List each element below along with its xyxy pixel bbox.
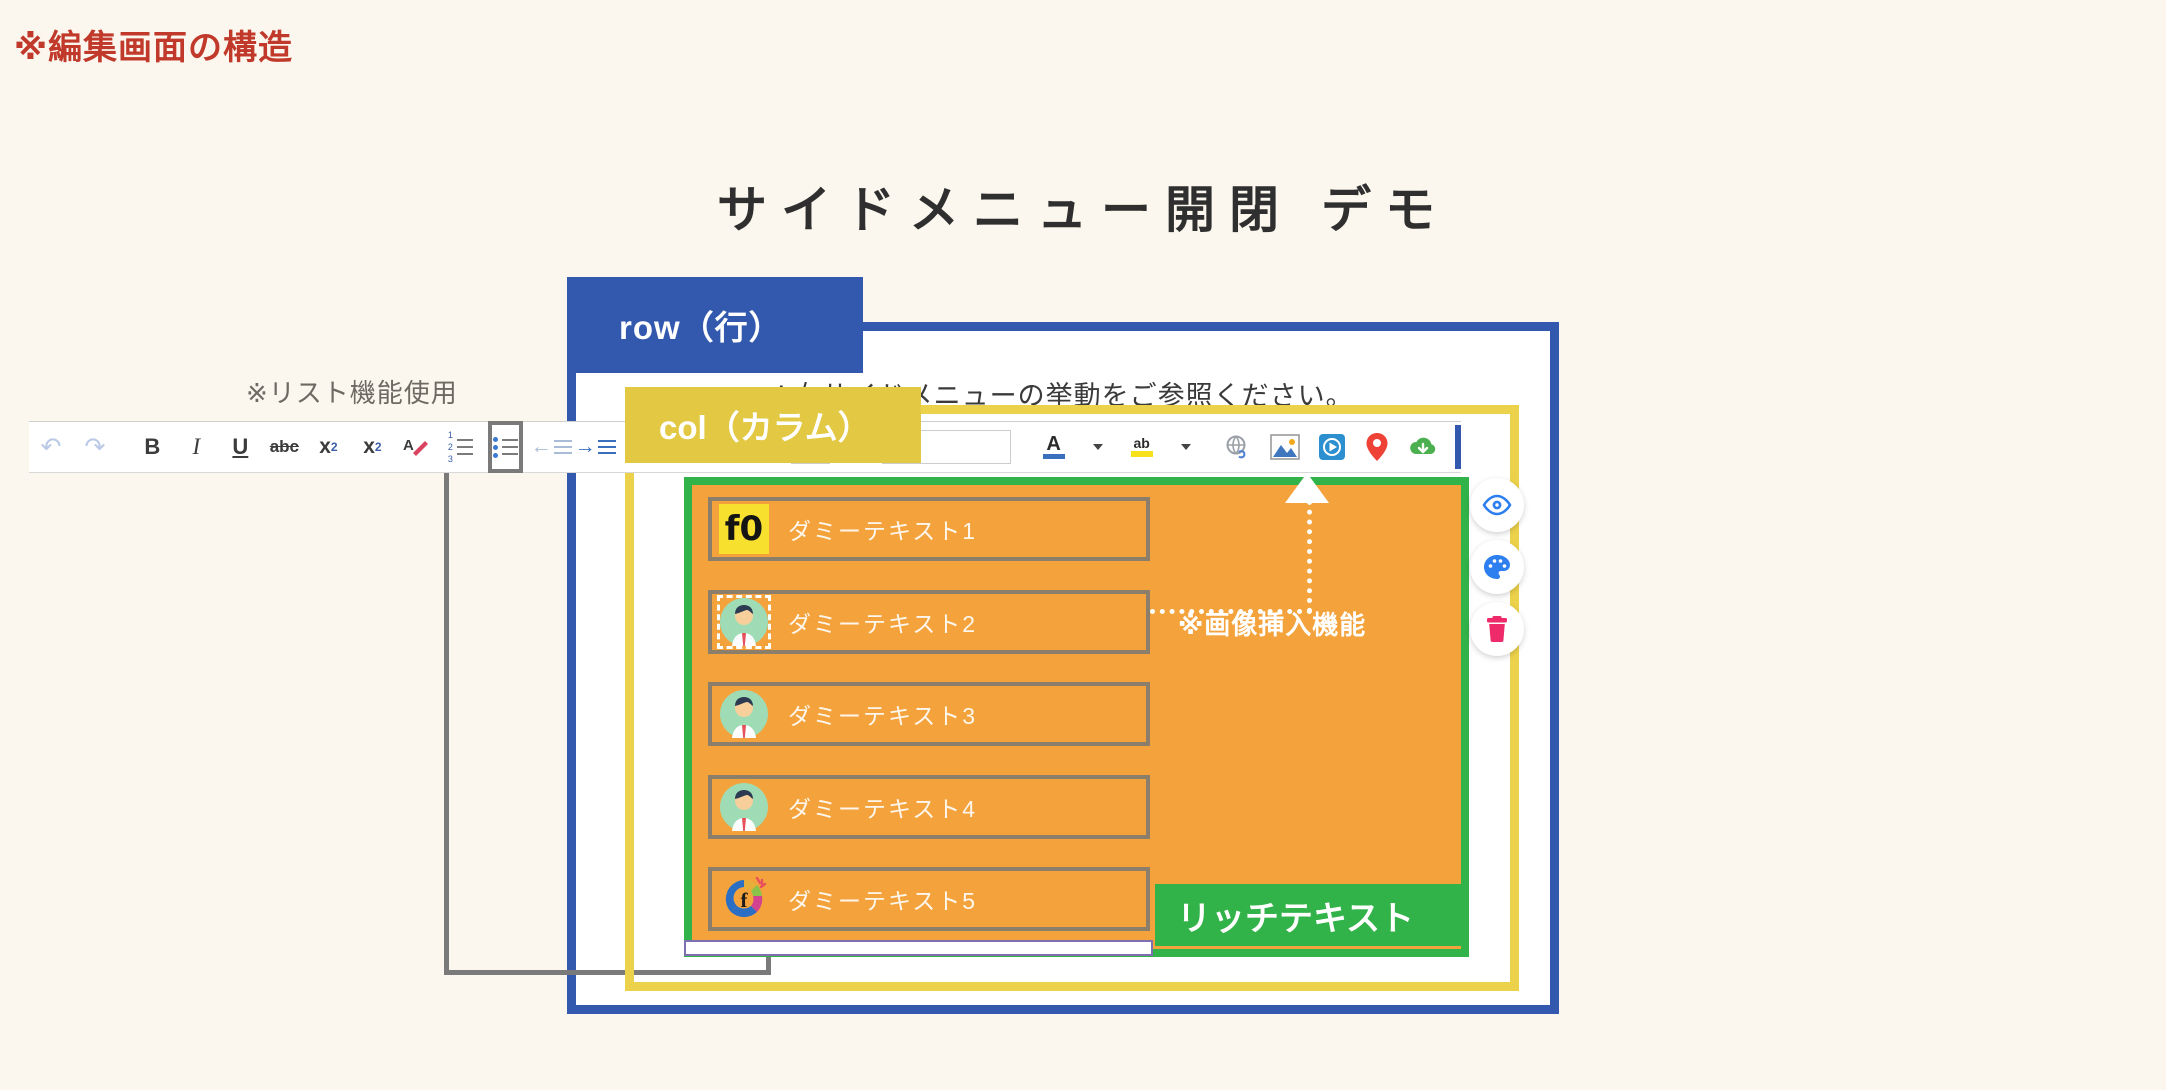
col-callout-label: col（カラム） [659, 401, 871, 449]
image-feature-caption: ※画像挿入機能 [1178, 605, 1366, 642]
col-callout-tag: col（カラム） [625, 387, 921, 463]
demo-title: サイドメニュー開閉 デモ [0, 170, 2166, 242]
strikethrough-icon: abc [270, 437, 299, 457]
list-item[interactable]: ダミーテキスト3 [708, 682, 1150, 746]
avatar-icon [718, 781, 770, 833]
avatar-icon [718, 688, 770, 740]
highlight-color-button[interactable]: ab [1125, 427, 1159, 467]
preview-button[interactable] [1470, 478, 1524, 532]
redo-icon: ↷ [85, 432, 106, 462]
cloud-download-icon [1408, 434, 1438, 460]
link-icon [1224, 433, 1252, 461]
flower-f-logo-icon: f [718, 873, 770, 925]
outdent-icon: ← [531, 435, 572, 459]
highlight-color-dropdown[interactable] [1169, 427, 1203, 467]
redo-button[interactable]: ↷ [78, 427, 112, 467]
strikethrough-button[interactable]: abc [267, 427, 301, 467]
subscript-icon: x [319, 435, 331, 459]
avatar-image [719, 597, 769, 647]
text-color-icon: A [1043, 435, 1065, 459]
list-item-label: ダミーテキスト2 [788, 605, 977, 639]
location-pin-icon [1364, 432, 1390, 462]
cloud-download-button[interactable] [1408, 432, 1438, 462]
list-item-label: ダミーテキスト5 [788, 882, 977, 916]
chevron-down-icon [1093, 444, 1103, 450]
image-feature-line-vertical [1307, 490, 1312, 613]
text-color-button[interactable]: A [1037, 427, 1071, 467]
style-button[interactable] [1470, 540, 1524, 594]
subscript-mark: 2 [331, 440, 338, 454]
f0-badge-label: f0 [719, 504, 769, 554]
svg-text:A: A [403, 437, 414, 454]
text-color-dropdown[interactable] [1081, 427, 1115, 467]
clear-format-icon: A [403, 435, 429, 459]
avatar-image [719, 689, 769, 739]
rich-text-callout-tag: リッチテキスト [1155, 884, 1468, 946]
underline-button[interactable]: U [223, 427, 257, 467]
undo-icon: ↶ [41, 432, 62, 462]
rich-text-callout-label: リッチテキスト [1177, 891, 1414, 940]
video-icon [1318, 433, 1346, 461]
superscript-button[interactable]: x2 [355, 427, 389, 467]
avatar-image [719, 782, 769, 832]
clear-format-button[interactable]: A [399, 427, 433, 467]
f0-badge-icon: f0 [718, 503, 770, 555]
image-feature-arrow-icon [1285, 473, 1329, 503]
side-action-buttons [1470, 478, 1524, 664]
italic-button[interactable]: I [179, 427, 213, 467]
link-button[interactable] [1224, 432, 1252, 462]
image-icon [1270, 433, 1300, 461]
leader-line-vertical [444, 473, 449, 975]
list-item[interactable]: ダミーテキスト2 [708, 590, 1150, 654]
editor-bottom-strip [684, 940, 1153, 956]
outdent-button[interactable]: ← [534, 427, 568, 467]
page-annotation-title: ※編集画面の構造 [14, 20, 293, 69]
delete-button[interactable] [1470, 602, 1524, 656]
bullet-list-button[interactable] [488, 421, 523, 473]
subscript-button[interactable]: x2 [311, 427, 345, 467]
indent-icon: → [575, 435, 616, 459]
superscript-mark: 2 [375, 440, 382, 454]
chevron-down-icon [1181, 444, 1191, 450]
list-feature-caption: ※リスト機能使用 [246, 373, 458, 410]
bold-icon: B [144, 434, 160, 460]
video-button[interactable] [1318, 432, 1346, 462]
screenshot-root: ※編集画面の構造 サイドメニュー開閉 デモ ※右サイドメニューの挙動をご参照くだ… [0, 0, 2166, 1090]
underline-icon: U [232, 434, 248, 460]
list-item[interactable]: f ダミーテキスト5 [708, 867, 1150, 931]
list-item[interactable]: f0 ダミーテキスト1 [708, 497, 1150, 561]
numbered-list-button[interactable]: 123 [443, 427, 477, 467]
eye-icon [1482, 493, 1512, 517]
flower-f-logo-image: f [719, 874, 769, 924]
numbered-list-icon: 123 [448, 431, 473, 464]
avatar-icon[interactable] [718, 596, 770, 648]
row-callout-label: row（行） [619, 301, 783, 349]
row-callout-tag: row（行） [567, 277, 863, 373]
bullet-list-icon [493, 437, 518, 458]
list-item-label: ダミーテキスト3 [788, 697, 977, 731]
palette-icon [1483, 554, 1511, 580]
trash-icon [1485, 615, 1509, 643]
highlight-color-icon: ab [1131, 437, 1153, 456]
italic-icon: I [193, 434, 201, 460]
svg-text:f: f [741, 888, 749, 912]
indent-button[interactable]: → [578, 427, 612, 467]
undo-button[interactable]: ↶ [34, 427, 68, 467]
bold-button[interactable]: B [135, 427, 169, 467]
superscript-icon: x [363, 435, 375, 459]
image-button[interactable] [1270, 432, 1300, 462]
list-item-label: ダミーテキスト4 [788, 790, 977, 824]
list-item-label: ダミーテキスト1 [788, 512, 977, 546]
location-button[interactable] [1364, 432, 1390, 462]
list-item[interactable]: ダミーテキスト4 [708, 775, 1150, 839]
toolbar-blue-marker [1455, 425, 1461, 469]
